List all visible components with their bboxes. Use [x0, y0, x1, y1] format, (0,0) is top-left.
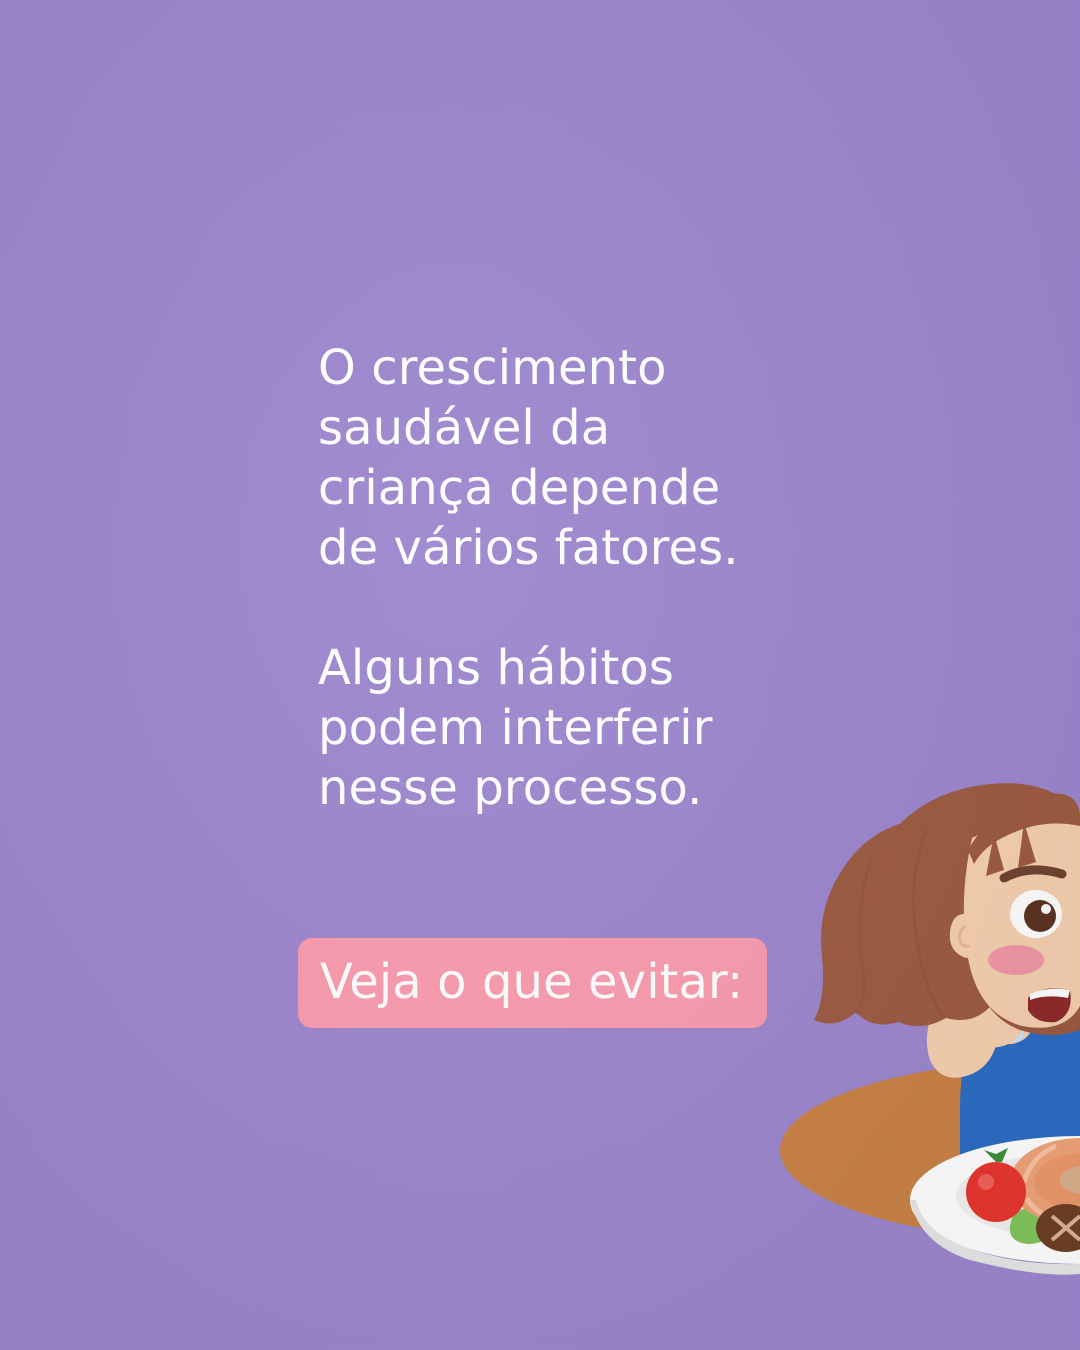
- poster-canvas: O crescimento saudável da criança depend…: [0, 0, 1080, 1350]
- blush-icon: [988, 945, 1044, 975]
- see-what-to-avoid-button[interactable]: Veja o que evitar:: [298, 938, 767, 1028]
- headline-copy-block: O crescimento saudável da criança depend…: [318, 338, 788, 818]
- paragraph-primary: O crescimento saudável da criança depend…: [318, 338, 788, 578]
- eye-icon: [1010, 890, 1062, 938]
- girl-eating-broccoli-illustration: [780, 730, 1080, 1350]
- cta-container: Veja o que evitar:: [298, 938, 767, 1028]
- paragraph-secondary: Alguns hábitos podem interferir nesse pr…: [318, 638, 788, 818]
